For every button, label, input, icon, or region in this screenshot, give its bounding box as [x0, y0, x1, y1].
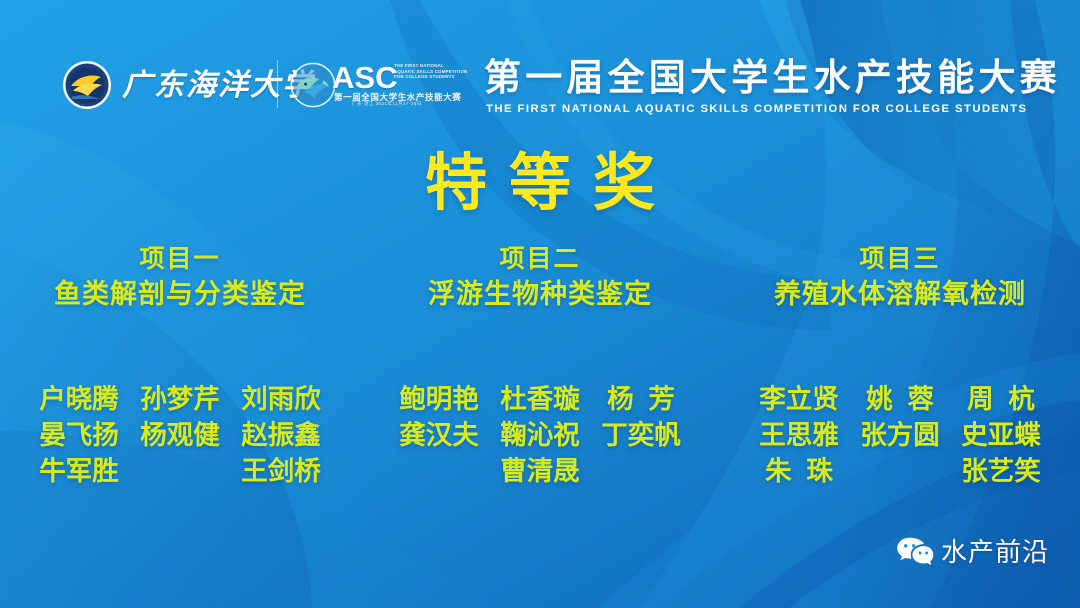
winner-name: 杨观健: [130, 417, 231, 453]
winner-name: 户晓腾: [29, 381, 130, 417]
roster-project-1: 户晓腾 孙梦芹 刘雨欣 晏飞扬 杨观健 赵振鑫 牛军胜 王剑桥: [0, 381, 360, 489]
project-number-label: 项目一: [0, 243, 360, 276]
project-number-label: 项目二: [360, 243, 720, 276]
header-divider: [277, 60, 278, 108]
project-column-1: 项目一 鱼类解剖与分类鉴定: [0, 243, 360, 312]
roster-row: 朱 珠 张艺笑: [749, 453, 1052, 489]
winner-name: 赵振鑫: [231, 417, 332, 453]
project-name-label: 浮游生物种类鉴定: [360, 276, 720, 312]
winner-name: 刘雨欣: [231, 381, 332, 417]
winner-name: 王思雅: [749, 417, 850, 453]
winner-name: 孙梦芹: [130, 381, 231, 417]
roster-row: 李立贤 姚 蓉 周 杭: [749, 381, 1052, 417]
project-name-label: 鱼类解剖与分类鉴定: [0, 276, 360, 312]
winner-name-empty: [850, 453, 951, 489]
winner-rosters: 户晓腾 孙梦芹 刘雨欣 晏飞扬 杨观健 赵振鑫 牛军胜 王剑桥 鲍明艳 杜香璇 …: [0, 381, 1080, 489]
poster-header: 广东海洋大学 ASC THE FIRST NATIONAL AQUATIC SK…: [0, 0, 1080, 130]
winner-name-empty: [389, 453, 490, 489]
winner-name: 曹清晟: [490, 453, 591, 489]
poster-canvas: 广东海洋大学 ASC THE FIRST NATIONAL AQUATIC SK…: [0, 0, 1080, 608]
winner-name: 杨 芳: [591, 381, 692, 417]
roster-row: 晏飞扬 杨观健 赵振鑫: [29, 417, 332, 453]
roster-row: 鲍明艳 杜香璇 杨 芳: [389, 381, 692, 417]
roster-project-3: 李立贤 姚 蓉 周 杭 王思雅 张方圆 史亚蝶 朱 珠 张艺笑: [720, 381, 1080, 489]
asc-wordmark: ASC: [332, 62, 397, 93]
roster-row: 牛军胜 王剑桥: [29, 453, 332, 489]
wechat-bubbles-icon: [896, 536, 934, 568]
project-columns: 项目一 鱼类解剖与分类鉴定 项目二 浮游生物种类鉴定 项目三 养殖水体溶解氧检测: [0, 243, 1080, 312]
roster-row: 户晓腾 孙梦芹 刘雨欣: [29, 381, 332, 417]
winner-name: 晏飞扬: [29, 417, 130, 453]
winner-name: 周 杭: [951, 381, 1052, 417]
winner-name-empty: [591, 453, 692, 489]
winner-name: 张方圆: [850, 417, 951, 453]
roster-row: 王思雅 张方圆 史亚蝶: [749, 417, 1052, 453]
award-title: 特等奖: [0, 146, 1080, 222]
asc-fish-circle-icon: [290, 62, 336, 108]
winner-name: 张艺笑: [951, 453, 1052, 489]
winner-name: 王剑桥: [231, 453, 332, 489]
project-name-label: 养殖水体溶解氧检测: [720, 276, 1080, 312]
winner-name: 丁奕帆: [591, 417, 692, 453]
winner-name: 龚汉夫: [389, 417, 490, 453]
project-column-3: 项目三 养殖水体溶解氧检测: [720, 243, 1080, 312]
roster-project-2: 鲍明艳 杜香璇 杨 芳 龚汉夫 鞠沁祝 丁奕帆 曹清晟: [360, 381, 720, 489]
winner-name-empty: [130, 453, 231, 489]
winner-name: 杜香璇: [490, 381, 591, 417]
roster-row: 曹清晟: [389, 453, 692, 489]
winner-name: 牛军胜: [29, 453, 130, 489]
university-name: 广东海洋大学: [122, 66, 267, 106]
asc-en-line-3: FOR COLLEGE STUDENTS: [394, 74, 486, 80]
winner-name: 鲍明艳: [389, 381, 490, 417]
winner-name: 朱 珠: [749, 453, 850, 489]
winner-name: 史亚蝶: [951, 417, 1052, 453]
winner-name: 李立贤: [749, 381, 850, 417]
project-column-2: 项目二 浮游生物种类鉴定: [360, 243, 720, 312]
asc-english-lines: THE FIRST NATIONAL AQUATIC SKILLS COMPET…: [394, 63, 486, 80]
competition-title: 第一届全国大学生水产技能大赛: [484, 57, 1061, 98]
roster-row: 龚汉夫 鞠沁祝 丁奕帆: [389, 417, 692, 453]
asc-chinese-subtitle-secondary: 广东·湛江 2021年11月27-28日: [352, 101, 422, 107]
project-number-label: 项目三: [720, 243, 1080, 276]
wechat-account-footer: 水产前沿: [896, 532, 1049, 572]
gdou-circular-emblem-icon: [62, 60, 112, 110]
wechat-account-name: 水产前沿: [941, 536, 1049, 568]
winner-name: 鞠沁祝: [490, 417, 591, 453]
competition-subtitle-english: THE FIRST NATIONAL AQUATIC SKILLS COMPET…: [486, 103, 1028, 116]
winner-name: 姚 蓉: [850, 381, 951, 417]
